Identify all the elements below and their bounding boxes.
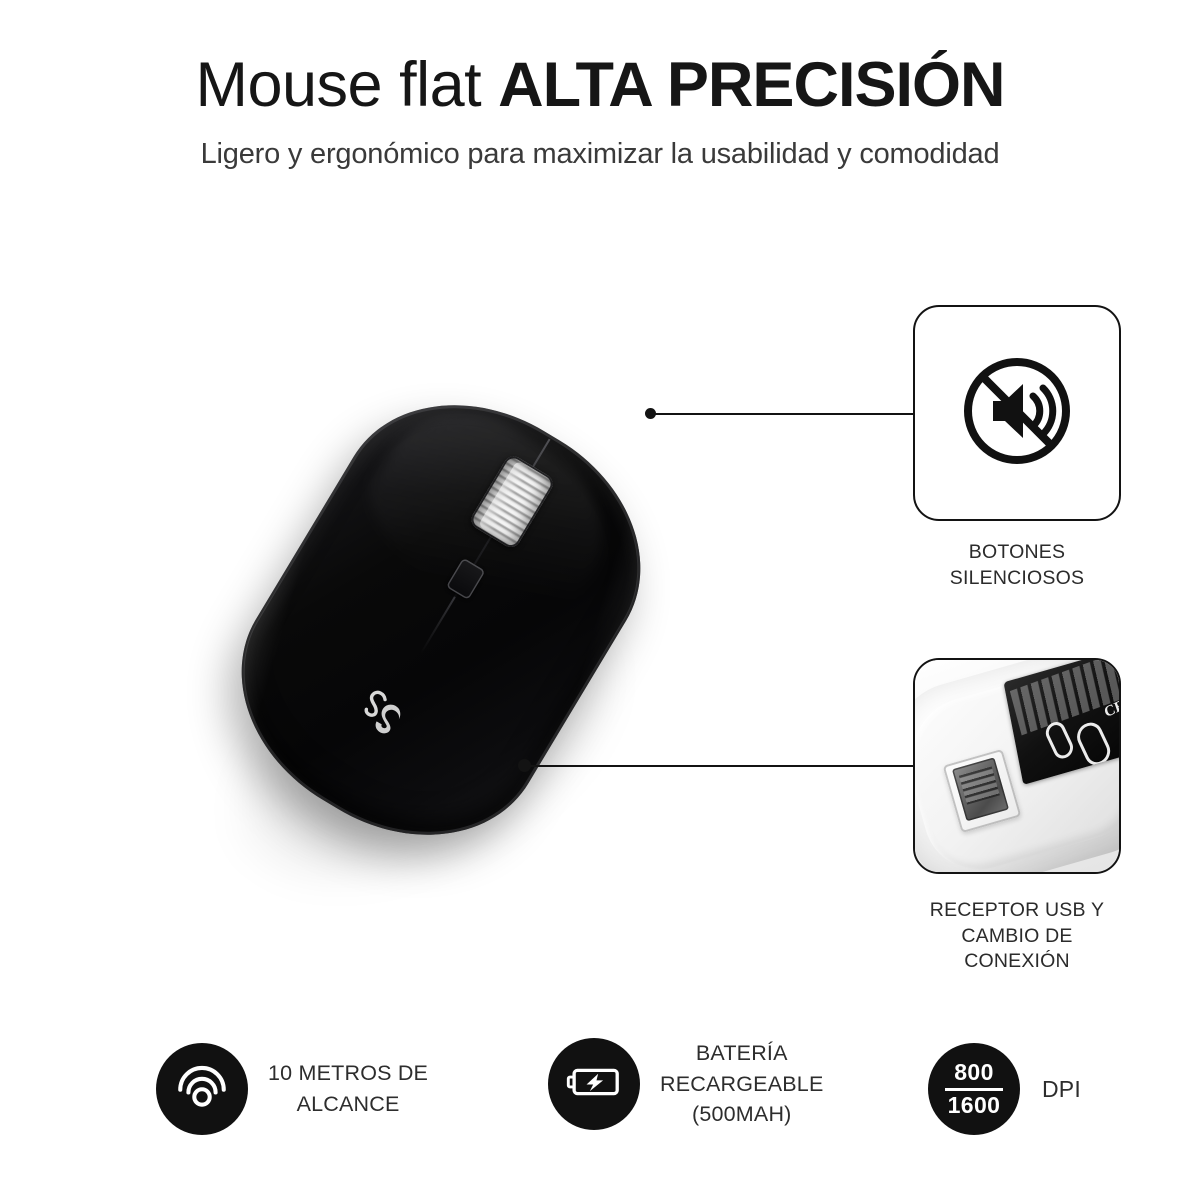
badge-line-3: (500MAH) — [660, 1099, 824, 1130]
dpi-button — [446, 558, 486, 601]
leader-line-top — [652, 413, 914, 415]
leader-line-bottom — [528, 765, 914, 767]
label-cutout-a — [1043, 718, 1077, 762]
badge-range-text: 10 METROS DE ALCANCE — [268, 1058, 428, 1119]
scroll-wheel — [468, 453, 557, 551]
usb-nano-dongle — [952, 757, 1009, 821]
dpi-low-value: 1600 — [945, 1094, 1003, 1118]
badge-dpi-label: DPI — [1042, 1073, 1081, 1106]
feature-card-usb-receiver: CE — [913, 658, 1121, 874]
dpi-divider — [945, 1088, 1003, 1091]
badge-battery-text: BATERÍA RECARGEABLE (500MAH) — [660, 1038, 824, 1130]
badge-line-1: 10 METROS DE — [268, 1058, 428, 1089]
badge-range-circle — [156, 1043, 248, 1135]
product-image — [170, 295, 730, 915]
usb-receiver-photo: CE — [915, 660, 1119, 872]
header: Mouse flat ALTA PRECISIÓN Ligero y ergon… — [0, 52, 1200, 171]
badge-range: 10 METROS DE ALCANCE — [156, 1043, 428, 1135]
page-title: Mouse flat ALTA PRECISIÓN — [0, 52, 1200, 119]
badge-line-2: RECARGEABLE — [660, 1069, 824, 1100]
mouse-seam — [420, 596, 456, 654]
ss-logo-icon — [342, 677, 424, 757]
title-regular: Mouse flat — [196, 50, 499, 120]
feature-card-2-caption: RECEPTOR USB Y CAMBIO DE CONEXIÓN — [897, 898, 1137, 975]
badge-dpi: 800 1600 DPI — [928, 1043, 1081, 1135]
badge-battery-circle — [548, 1038, 640, 1130]
wireless-signal-icon — [173, 1058, 231, 1121]
title-bold: ALTA PRECISIÓN — [498, 50, 1004, 120]
caption-line-3: CONEXIÓN — [897, 949, 1137, 975]
caption-line-1: BOTONES — [897, 540, 1137, 566]
caption-line-2: CAMBIO DE — [897, 924, 1137, 950]
badge-battery: BATERÍA RECARGEABLE (500MAH) — [548, 1038, 824, 1130]
badge-dpi-circle: 800 1600 — [928, 1043, 1020, 1135]
dpi-high-value: 800 — [945, 1061, 1003, 1085]
feature-card-1-caption: BOTONES SILENCIOSOS — [897, 540, 1137, 591]
product-infographic: Mouse flat ALTA PRECISIÓN Ligero y ergon… — [0, 0, 1200, 1200]
caption-line-1: RECEPTOR USB Y — [897, 898, 1137, 924]
feature-badge-row: 10 METROS DE ALCANCE BATERÍA RECARGEABLE… — [0, 1038, 1200, 1168]
caption-line-2: SILENCIOSOS — [897, 566, 1137, 592]
page-subtitle: Ligero y ergonómico para maximizar la us… — [0, 138, 1200, 171]
mute-speaker-icon — [957, 351, 1077, 476]
badge-line-2: ALCANCE — [268, 1089, 428, 1120]
badge-line-1: BATERÍA — [660, 1038, 824, 1069]
rechargeable-battery-icon — [565, 1062, 623, 1107]
feature-card-silent-buttons — [913, 305, 1121, 521]
dpi-icon: 800 1600 — [945, 1061, 1003, 1118]
